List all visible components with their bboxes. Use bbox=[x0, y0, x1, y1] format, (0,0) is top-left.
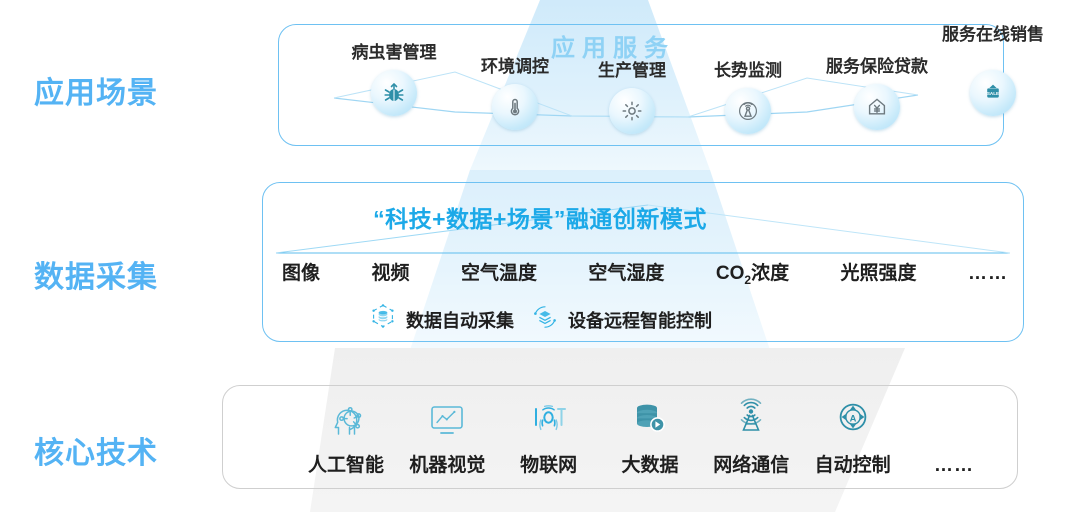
scene-node-label: 环境调控 bbox=[481, 58, 549, 75]
tech-item-label: 物联网 bbox=[503, 450, 595, 477]
tech-item-big-data[interactable]: 大数据 bbox=[604, 396, 696, 477]
auto-control-icon: A bbox=[807, 396, 899, 442]
section-label-core-technology: 核心技术 bbox=[34, 428, 158, 472]
tech-item-ellipsis: …… bbox=[908, 401, 1000, 477]
tech-item-network-communication[interactable]: 网络通信 bbox=[705, 396, 797, 477]
svg-text:SALE: SALE bbox=[987, 91, 999, 96]
data-tag: 图像 bbox=[282, 258, 320, 285]
data-feature-list: 数据自动采集 设备远程智能控制 bbox=[0, 302, 1080, 337]
data-tag: 视频 bbox=[371, 258, 409, 285]
ai-head-icon bbox=[300, 396, 392, 442]
section-label-data-collection: 数据采集 bbox=[34, 252, 158, 296]
gear-icon bbox=[609, 88, 655, 134]
bug-icon bbox=[371, 70, 417, 116]
iot-icon bbox=[503, 396, 595, 442]
tech-item-automatic-control[interactable]: A 自动控制 bbox=[807, 396, 899, 477]
tech-item-label: 网络通信 bbox=[705, 450, 797, 477]
core-technology-list: 人工智能 机器视觉 bbox=[300, 396, 1000, 477]
data-tag-ellipsis: …… bbox=[968, 263, 1008, 285]
layers-cycle-icon bbox=[530, 302, 560, 337]
tech-item-label: 自动控制 bbox=[807, 450, 899, 477]
data-tag: 空气湿度 bbox=[588, 258, 664, 285]
tech-item-iot[interactable]: 物联网 bbox=[503, 396, 595, 477]
scene-node-label: 服务在线销售 bbox=[942, 26, 1044, 43]
data-feature-label: 数据自动采集 bbox=[406, 307, 514, 333]
infographic-root: 应用场景 数据采集 核心技术 应用服务 病虫害管理 环 bbox=[0, 0, 1080, 512]
tech-item-label: 人工智能 bbox=[300, 450, 392, 477]
data-feature-auto-collection: 数据自动采集 bbox=[368, 302, 514, 337]
data-innovation-headline: “科技+数据+场景”融通创新模式 bbox=[0, 200, 1080, 234]
data-tag-co2: CO2浓度 bbox=[716, 258, 789, 287]
data-feature-label: 设备远程智能控制 bbox=[568, 307, 712, 333]
signal-tower-icon bbox=[725, 88, 771, 134]
data-tag: 光照强度 bbox=[841, 258, 917, 285]
tech-item-machine-vision[interactable]: 机器视觉 bbox=[401, 396, 493, 477]
scene-node-label: 服务保险贷款 bbox=[826, 58, 928, 75]
monitor-chart-icon bbox=[401, 396, 493, 442]
section-label-application-scenarios: 应用场景 bbox=[34, 68, 158, 112]
thermometer-icon bbox=[492, 84, 538, 130]
data-tag-list: 图像 视频 空气温度 空气湿度 CO2浓度 光照强度 …… bbox=[282, 258, 1008, 287]
tech-item-artificial-intelligence[interactable]: 人工智能 bbox=[300, 396, 392, 477]
tech-item-label: 机器视觉 bbox=[401, 450, 493, 477]
tech-ellipsis-spacer bbox=[908, 401, 1000, 447]
tech-item-label: …… bbox=[908, 455, 1000, 477]
antenna-signal-icon bbox=[705, 396, 797, 442]
scene-node-label: 生产管理 bbox=[598, 62, 666, 79]
database-stack-icon bbox=[604, 396, 696, 442]
scene-node-label: 病虫害管理 bbox=[352, 44, 437, 61]
data-tag: 空气温度 bbox=[461, 258, 537, 285]
application-scenarios-row: 病虫害管理 环境调控 bbox=[0, 0, 1080, 170]
tech-item-label: 大数据 bbox=[604, 450, 696, 477]
sale-tag-icon: SALE bbox=[970, 70, 1016, 116]
data-feature-remote-control: 设备远程智能控制 bbox=[530, 302, 712, 337]
scene-node-label: 长势监测 bbox=[714, 62, 782, 79]
house-yuan-icon bbox=[854, 84, 900, 130]
database-hexagon-icon bbox=[368, 302, 398, 337]
svg-text:A: A bbox=[849, 412, 856, 423]
